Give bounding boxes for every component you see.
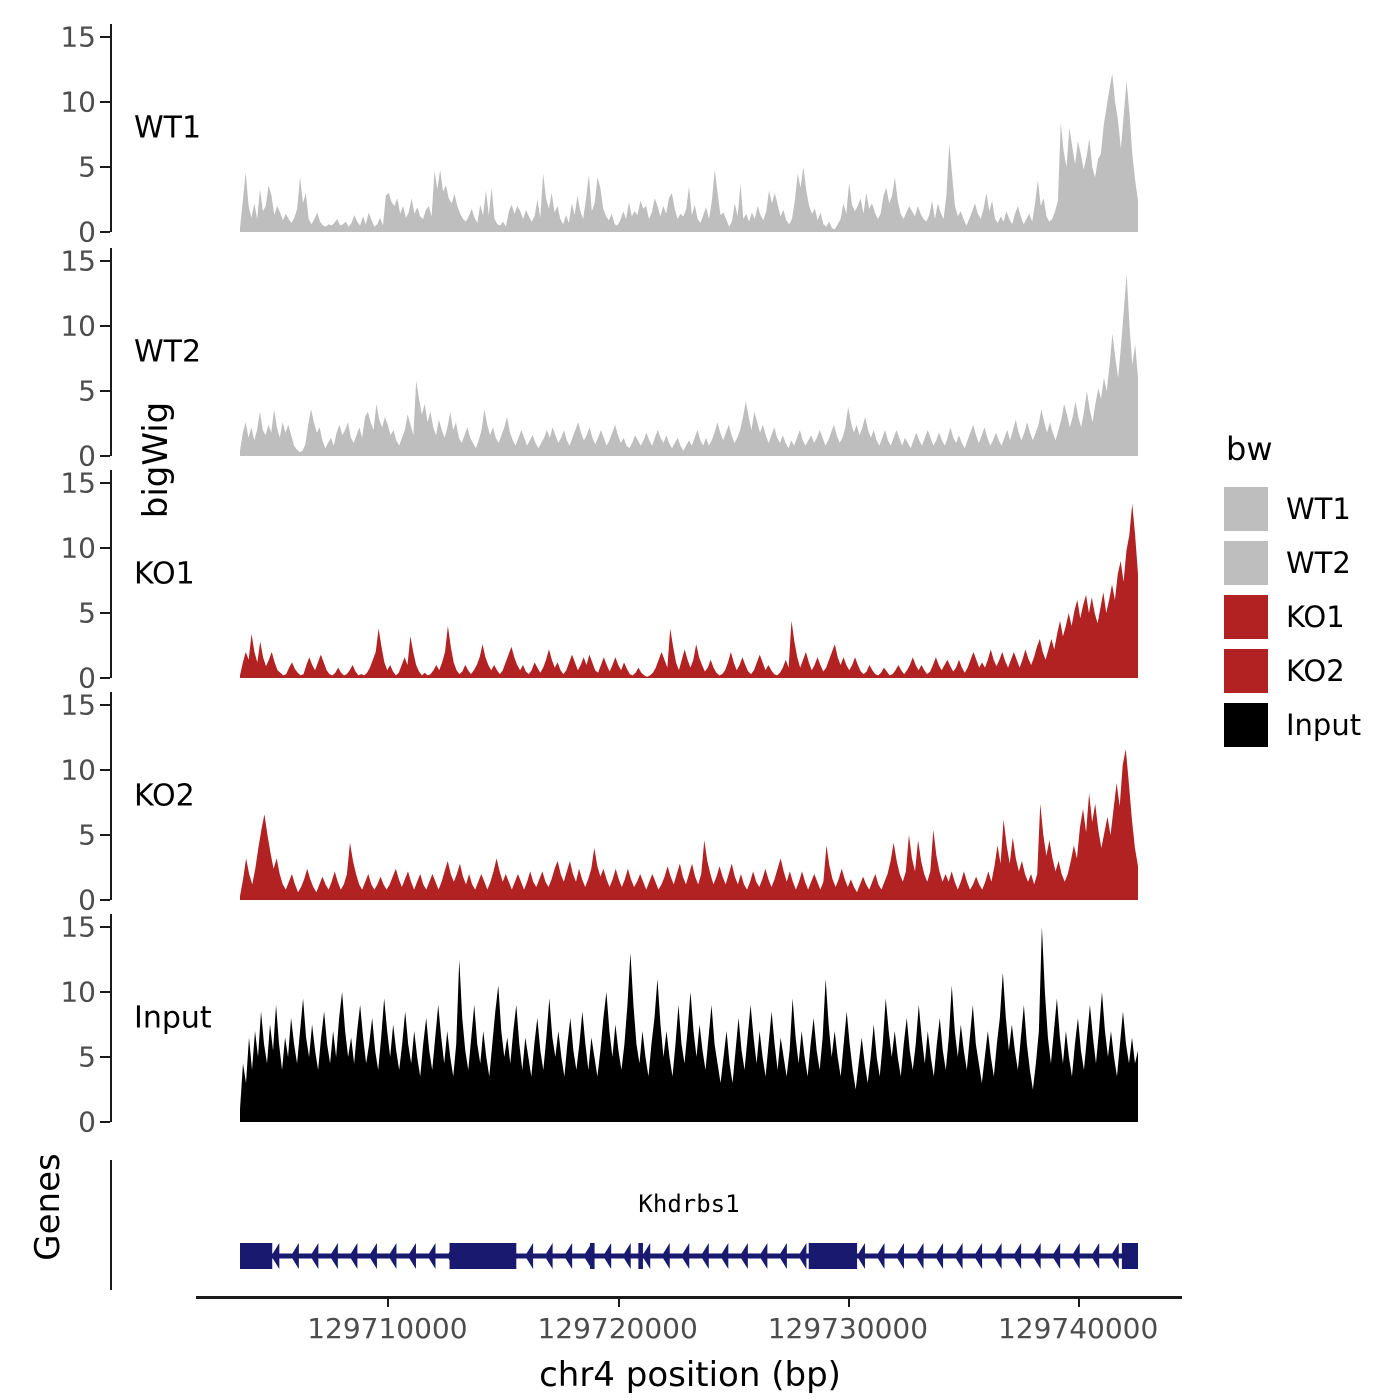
- legend-item-wt1[interactable]: WT1: [1224, 482, 1394, 536]
- genes-axis-line: [110, 1160, 112, 1290]
- y-tick-label: 5: [78, 597, 96, 630]
- y-tick-label: 15: [60, 21, 96, 54]
- x-axis-label: chr4 position (bp): [240, 1355, 1140, 1395]
- legend: bw WT1WT2KO1KO2Input: [1224, 430, 1394, 752]
- y-tick: [100, 899, 110, 901]
- y-axis-line: [110, 24, 112, 232]
- y-tick: [100, 547, 110, 549]
- x-tick: [387, 1296, 389, 1307]
- y-tick: [100, 482, 110, 484]
- track-panel-ko2: 051015KO2: [110, 692, 1182, 900]
- legend-item-ko1[interactable]: KO1: [1224, 590, 1394, 644]
- y-axis-line: [110, 470, 112, 678]
- x-tick-label: 129710000: [307, 1312, 467, 1345]
- track-label-ko2: KO2: [134, 779, 195, 814]
- y-tick: [100, 1121, 110, 1123]
- y-tick: [100, 769, 110, 771]
- track-label-wt1: WT1: [134, 111, 201, 146]
- y-tick-label: 15: [60, 245, 96, 278]
- y-tick: [100, 926, 110, 928]
- gene-name-label: Khdrbs1: [638, 1190, 739, 1218]
- track-plot-wt2: [240, 248, 1138, 456]
- y-axis-line: [110, 248, 112, 456]
- legend-swatch-ko2: [1224, 649, 1268, 693]
- y-tick-label: 5: [78, 1041, 96, 1074]
- genes-panel: Khdrbs1: [110, 1160, 1182, 1290]
- y-tick: [100, 101, 110, 103]
- y-tick-label: 5: [78, 819, 96, 852]
- legend-label: WT2: [1286, 546, 1351, 580]
- y-tick-label: 10: [60, 532, 96, 565]
- y-tick-label: 15: [60, 467, 96, 500]
- y-tick: [100, 166, 110, 168]
- y-tick-label: 5: [78, 151, 96, 184]
- x-tick-label: 129730000: [768, 1312, 928, 1345]
- track-plot-input: [240, 914, 1138, 1122]
- legend-label: KO2: [1286, 654, 1345, 688]
- y-tick: [100, 36, 110, 38]
- y-tick: [100, 834, 110, 836]
- legend-swatch-input: [1224, 703, 1268, 747]
- legend-title: bw: [1224, 430, 1394, 468]
- track-label-ko1: KO1: [134, 557, 195, 592]
- y-tick-label: 5: [78, 375, 96, 408]
- track-panel-wt2: 051015WT2: [110, 248, 1182, 456]
- y-tick: [100, 455, 110, 457]
- legend-swatch-wt1: [1224, 487, 1268, 531]
- genes-axis-label: Genes: [23, 1097, 73, 1317]
- x-tick: [1078, 1296, 1080, 1307]
- legend-label: WT1: [1286, 492, 1351, 526]
- x-tick: [618, 1296, 620, 1307]
- gene-model-plot: Khdrbs1: [240, 1160, 1138, 1290]
- y-tick-label: 10: [60, 976, 96, 1009]
- x-tick: [848, 1296, 850, 1307]
- y-tick-label: 10: [60, 86, 96, 119]
- legend-label: Input: [1286, 708, 1361, 742]
- track-plot-ko1: [240, 470, 1138, 678]
- legend-item-ko2[interactable]: KO2: [1224, 644, 1394, 698]
- track-panel-ko1: 051015KO1: [110, 470, 1182, 678]
- legend-label: KO1: [1286, 600, 1345, 634]
- y-tick: [100, 260, 110, 262]
- legend-item-input[interactable]: Input: [1224, 698, 1394, 752]
- legend-item-wt2[interactable]: WT2: [1224, 536, 1394, 590]
- y-axis-line: [110, 692, 112, 900]
- legend-swatch-ko1: [1224, 595, 1268, 639]
- y-tick-label: 15: [60, 689, 96, 722]
- y-tick: [100, 677, 110, 679]
- y-tick: [100, 325, 110, 327]
- y-tick: [100, 231, 110, 233]
- y-tick: [100, 390, 110, 392]
- y-axis-line: [110, 914, 112, 1122]
- y-tick: [100, 991, 110, 993]
- x-tick-label: 129740000: [998, 1312, 1158, 1345]
- track-plot-wt1: [240, 24, 1138, 232]
- track-panel-wt1: 051015WT1: [110, 24, 1182, 232]
- y-tick-label: 15: [60, 911, 96, 944]
- bigwig-genome-browser-figure: bigWig Genes 051015WT1051015WT2051015KO1…: [0, 0, 1400, 1400]
- x-axis-line: [196, 1296, 1182, 1299]
- y-tick-label: 10: [60, 754, 96, 787]
- y-tick-label: 10: [60, 310, 96, 343]
- legend-swatch-wt2: [1224, 541, 1268, 585]
- y-tick: [100, 1056, 110, 1058]
- track-plot-ko2: [240, 692, 1138, 900]
- y-tick: [100, 612, 110, 614]
- track-label-input: Input: [134, 1001, 212, 1036]
- track-panel-input: 051015Input: [110, 914, 1182, 1122]
- x-tick-label: 129720000: [537, 1312, 697, 1345]
- legend-items: WT1WT2KO1KO2Input: [1224, 482, 1394, 752]
- y-tick: [100, 704, 110, 706]
- y-tick-label: 0: [78, 1106, 96, 1139]
- track-label-wt2: WT2: [134, 335, 201, 370]
